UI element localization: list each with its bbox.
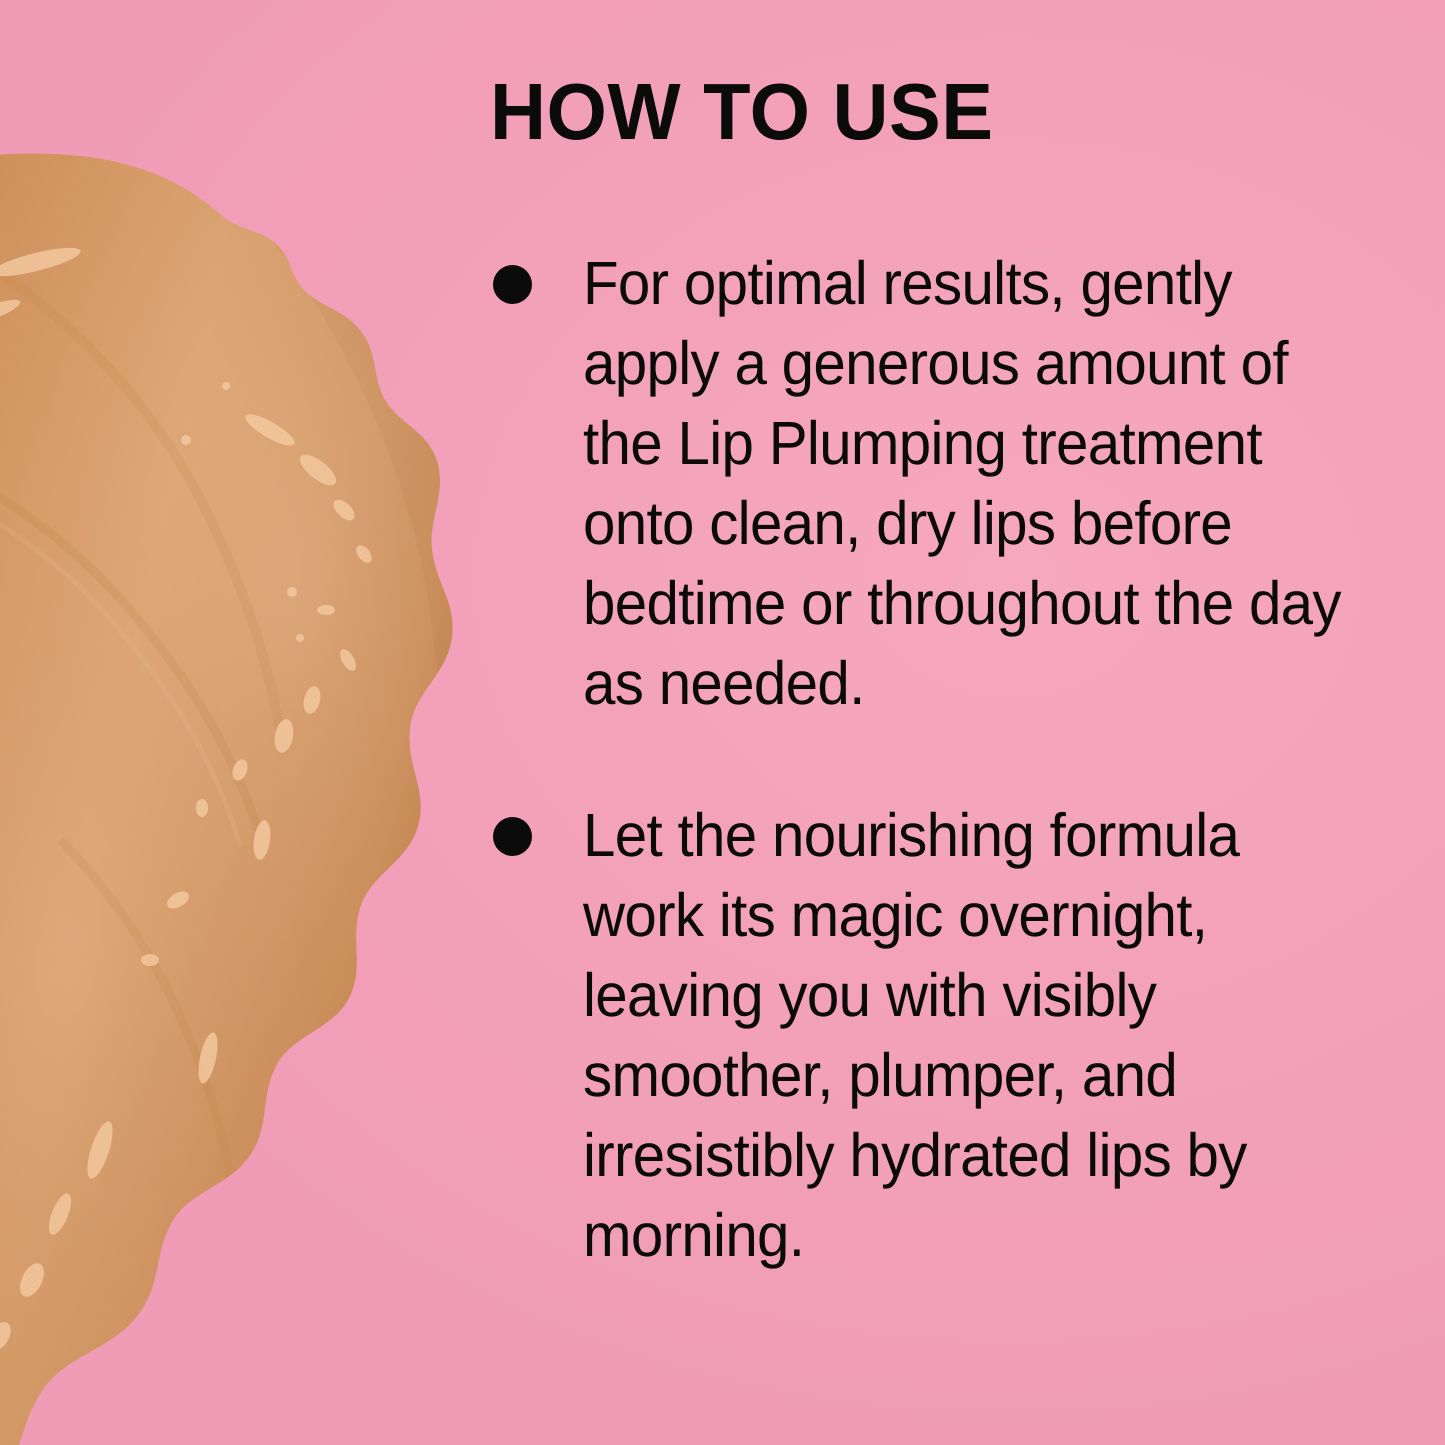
- list-item: For optimal results, gently apply a gene…: [487, 243, 1387, 723]
- page-title: HOW TO USE: [490, 72, 994, 152]
- bullet-dot-icon: [493, 265, 532, 304]
- list-item-text: Let the nourishing formula work its magi…: [583, 795, 1351, 1275]
- product-how-to-use-panel: HOW TO USE For optimal results, gently a…: [0, 0, 1445, 1445]
- instructions-column: HOW TO USE For optimal results, gently a…: [487, 0, 1387, 1445]
- list-item-text: For optimal results, gently apply a gene…: [583, 243, 1351, 723]
- how-to-use-list: For optimal results, gently apply a gene…: [487, 243, 1387, 1275]
- list-item: Let the nourishing formula work its magi…: [487, 795, 1387, 1275]
- bullet-dot-icon: [493, 817, 532, 856]
